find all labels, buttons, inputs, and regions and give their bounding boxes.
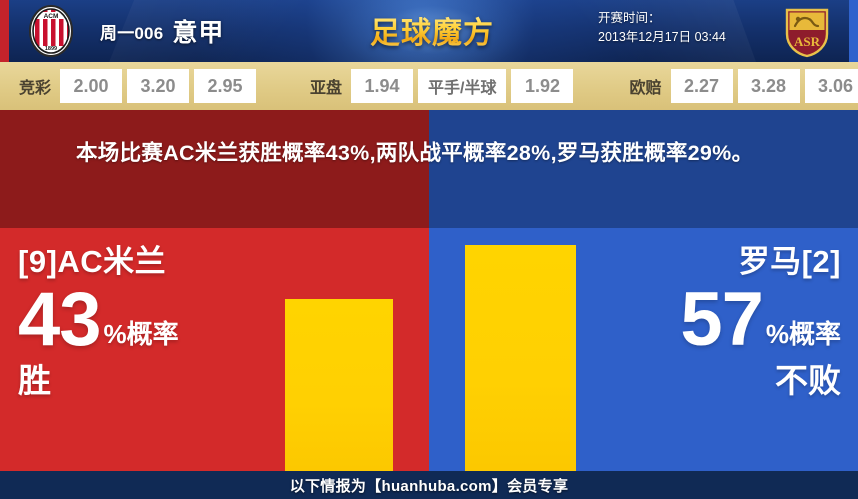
brand-logo-text: 足球魔方 (370, 8, 494, 52)
home-probability-row: 43 %概率 (18, 282, 308, 358)
away-outcome-label: 不败 (551, 362, 841, 400)
svg-text:ASR: ASR (794, 34, 821, 49)
footer-text: 以下情报为【huanhuba.com】会员专享 (290, 475, 569, 496)
odds-cell-handicap[interactable]: 平手/半球 (418, 69, 506, 103)
away-probability-row: 57 %概率 (551, 282, 841, 358)
odds-group-jingcai: 竞彩 2.00 3.20 2.95 (10, 62, 261, 110)
kickoff-time: 开赛时间： 2013年12月17日 03:44 (598, 9, 778, 47)
ac-milan-crest-icon: ACM 1899 (25, 4, 77, 58)
odds-cell-draw[interactable]: 3.20 (127, 69, 189, 103)
away-team-block: 罗马[2] 57 %概率 不败 (551, 228, 841, 471)
away-probability-value: 57 (680, 282, 763, 358)
home-team-block: [9]AC米兰 43 %概率 胜 (18, 228, 308, 471)
match-number: 周一006 (100, 19, 163, 44)
kickoff-label: 开赛时间： (598, 9, 778, 28)
svg-text:ACM: ACM (44, 13, 59, 20)
odds-bar: 竞彩 2.00 3.20 2.95 亚盘 1.94 平手/半球 1.92 欧赔 … (0, 62, 858, 110)
as-roma-crest-icon: ASR (781, 4, 833, 58)
odds-group-yapan: 亚盘 1.94 平手/半球 1.92 (301, 62, 578, 110)
home-outcome-label: 胜 (18, 362, 308, 400)
summary-text: 本场比赛AC米兰获胜概率43%,两队战平概率28%,罗马获胜概率29%。 (76, 136, 782, 170)
header-bar: ACM 1899 周一006 意甲 足球魔方 开赛时间： 2013年12月17日… (0, 0, 858, 62)
odds-group-label: 竞彩 (10, 74, 60, 98)
kickoff-value: 2013年12月17日 03:44 (598, 28, 778, 47)
odds-cell-away[interactable]: 3.06 (805, 69, 858, 103)
home-team-name: [9]AC米兰 (18, 244, 308, 280)
home-probability-value: 43 (18, 282, 101, 358)
svg-text:1899: 1899 (45, 46, 57, 52)
summary-band: 本场比赛AC米兰获胜概率43%,两队战平概率28%,罗马获胜概率29%。 (0, 110, 858, 228)
match-title: 周一006 意甲 (100, 0, 350, 62)
match-preview-graphic: ACM 1899 周一006 意甲 足球魔方 开赛时间： 2013年12月17日… (0, 0, 858, 499)
away-probability-suffix: %概率 (763, 321, 841, 358)
odds-cell-home[interactable]: 2.27 (671, 69, 733, 103)
odds-group-label: 欧赔 (620, 74, 670, 98)
odds-cell-away[interactable]: 2.95 (194, 69, 256, 103)
probability-panels: [9]AC米兰 43 %概率 胜 罗马[2] 57 %概率 不败 (0, 228, 858, 471)
league-name: 意甲 (172, 13, 224, 49)
footer-bar: 以下情报为【huanhuba.com】会员专享 (0, 471, 858, 499)
odds-group-oupei: 欧赔 2.27 3.28 3.06 (620, 62, 858, 110)
odds-cell-home[interactable]: 1.94 (351, 69, 413, 103)
odds-cell-away[interactable]: 1.92 (511, 69, 573, 103)
brand-logo: 足球魔方 (352, 6, 512, 54)
header-left-red-edge (0, 0, 9, 62)
home-probability-suffix: %概率 (101, 321, 179, 358)
away-team-name: 罗马[2] (551, 244, 841, 280)
odds-cell-home[interactable]: 2.00 (60, 69, 122, 103)
odds-group-label: 亚盘 (301, 74, 351, 98)
odds-cell-draw[interactable]: 3.28 (738, 69, 800, 103)
header-right-blue-edge (849, 0, 858, 62)
